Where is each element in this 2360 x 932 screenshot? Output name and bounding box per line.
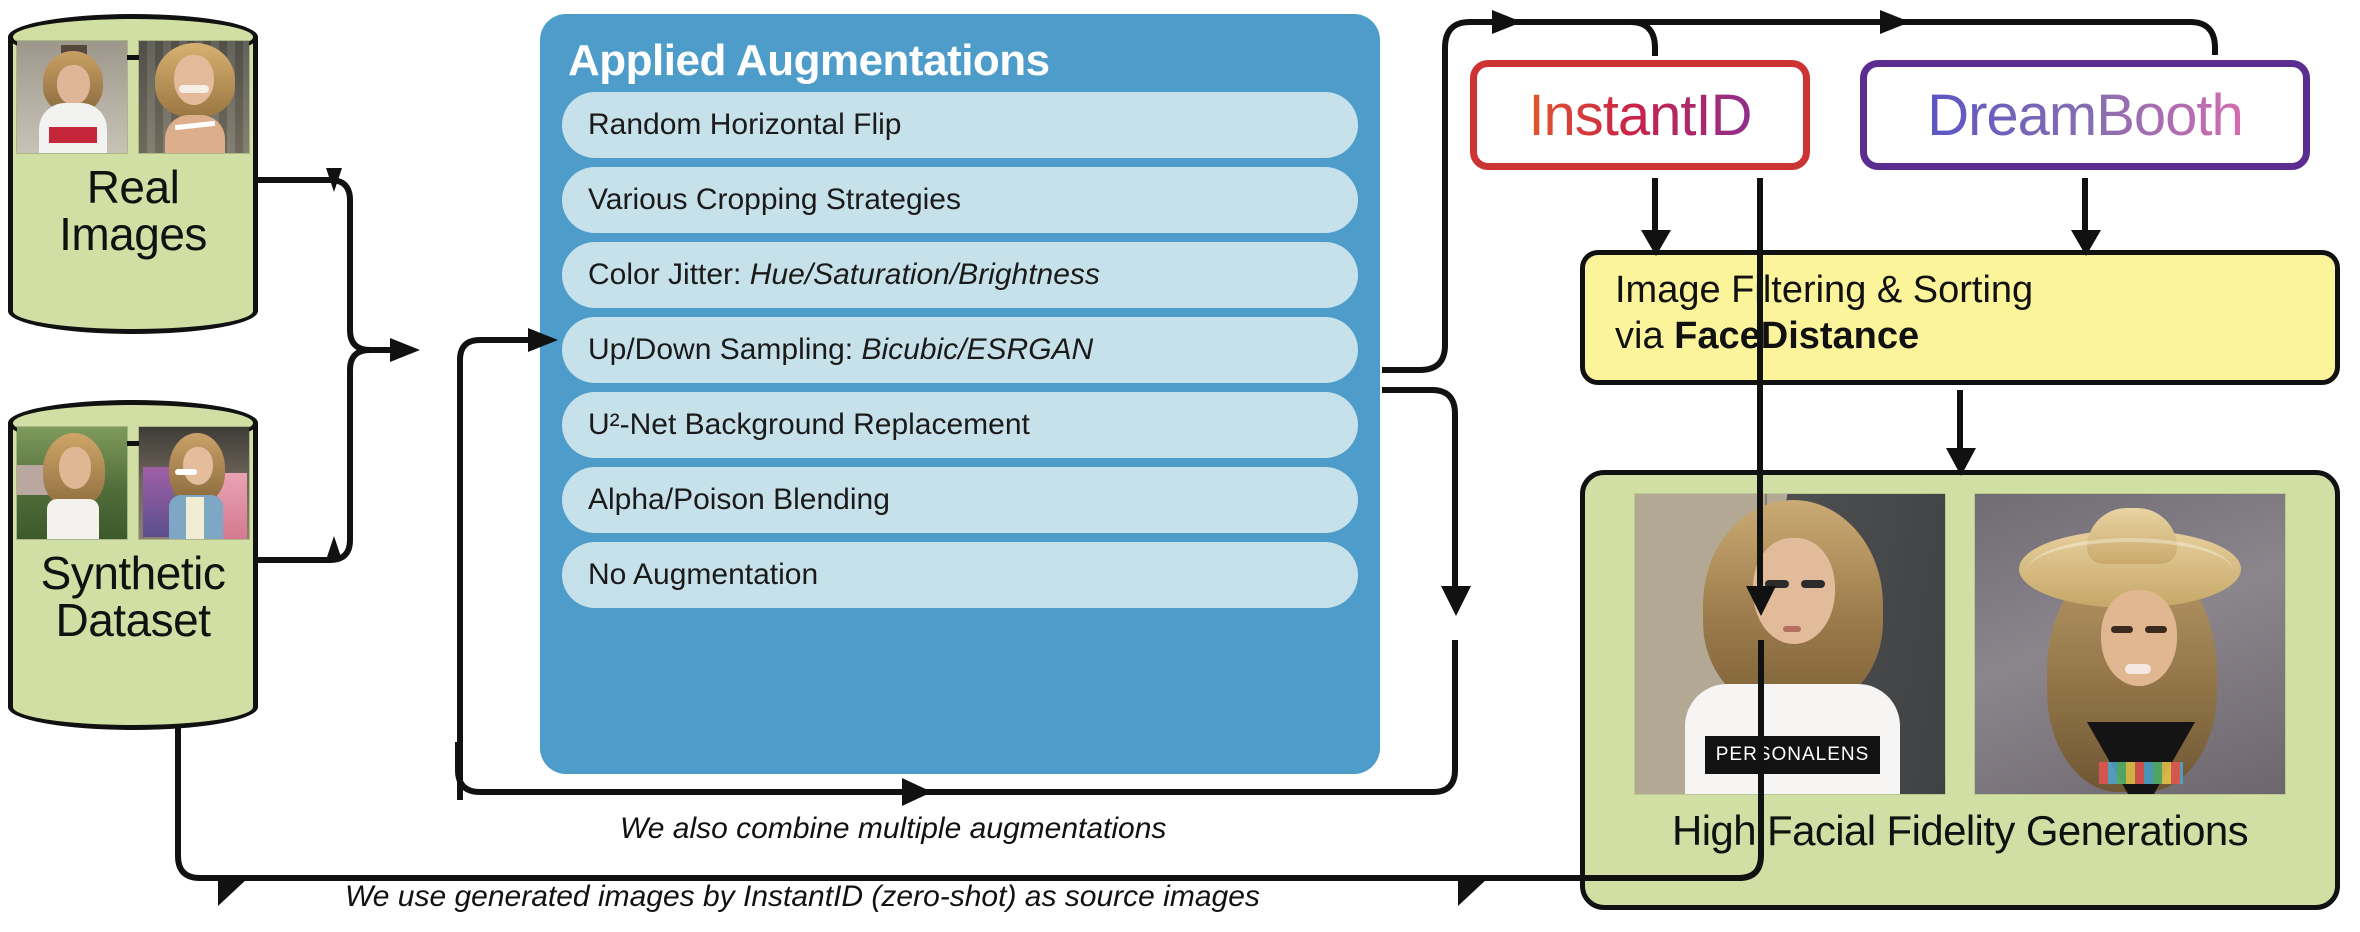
augmentation-label: Various Cropping Strategies <box>588 183 961 216</box>
arrowhead-synth-up <box>326 536 342 560</box>
cylinder-bottom-mask <box>13 679 253 707</box>
thumbnail-synth-2 <box>138 426 250 540</box>
augmentation-item-no-augmentation[interactable]: No Augmentation <box>562 542 1358 608</box>
generations-label: High Facial Fidelity Generations <box>1585 807 2335 855</box>
thumbnail-real-2 <box>138 40 250 154</box>
wire-branch-instantid <box>1630 22 1655 56</box>
filter-line-1: Image Filtering & Sorting <box>1615 267 2335 313</box>
augmentation-item-up-down-sampling[interactable]: Up/Down Sampling: Bicubic/ESRGAN <box>562 317 1358 383</box>
generation-thumb-1: PERSONALENS <box>1634 493 1946 795</box>
arrowhead-to-dreambooth <box>1880 10 1910 34</box>
arrowhead-source-loop-right <box>1458 878 1488 906</box>
instantid-label: InstantID <box>1528 82 1751 149</box>
caption-combine-augmentations: We also combine multiple augmentations <box>620 812 1166 846</box>
augmentation-label: Color Jitter: <box>588 258 750 291</box>
generation-thumbs: PERSONALENS <box>1585 493 2335 795</box>
arrowhead-merge <box>390 338 420 362</box>
synthetic-dataset-cylinder: Synthetic Dataset <box>8 400 258 730</box>
augmentation-label: Alpha/Poison Blending <box>588 483 890 516</box>
augmentation-item-color-jitter[interactable]: Color Jitter: Hue/Saturation/Brightness <box>562 242 1358 308</box>
augmentation-label-italic: Bicubic/ESRGAN <box>861 333 1093 366</box>
dreambooth-box[interactable]: DreamBooth <box>1860 60 2310 170</box>
arrowhead-combine-loop <box>902 778 932 806</box>
high-fidelity-generations-box: PERSONALENS High Facial Fidelity <box>1580 470 2340 910</box>
augmentation-item-various-cropping-strategies[interactable]: Various Cropping Strategies <box>562 167 1358 233</box>
wire-real-to-panel <box>258 180 395 350</box>
filter-line-2: via FaceDistance <box>1615 313 2335 359</box>
thumbnail-synth-1 <box>16 426 128 540</box>
cylinder-bottom-mask <box>13 283 253 311</box>
wire-synthetic-to-panel <box>258 350 395 560</box>
synthetic-dataset-label-line1: Synthetic <box>8 550 258 597</box>
arrowhead-panel-down <box>1441 586 1471 616</box>
wire-panel-down-right <box>1382 390 1455 600</box>
augmentation-label: Up/Down Sampling: <box>588 333 861 366</box>
applied-augmentations-panel: Applied Augmentations Random Horizontal … <box>540 14 1380 774</box>
synthetic-dataset-thumbs <box>8 426 258 540</box>
filter-line-2-prefix: via <box>1615 315 1674 357</box>
synthetic-dataset-label: Synthetic Dataset <box>8 550 258 644</box>
synthetic-dataset-label-line2: Dataset <box>8 597 258 644</box>
arrowhead-to-instantid <box>1492 10 1522 34</box>
instantid-box[interactable]: InstantID <box>1470 60 1810 170</box>
real-images-label-line2: Images <box>8 211 258 258</box>
arrowhead-source-loop-left <box>218 878 248 906</box>
arrowhead-real-down <box>326 168 342 192</box>
dreambooth-label: DreamBooth <box>1927 82 2243 149</box>
augmentation-label: Random Horizontal Flip <box>588 108 901 141</box>
augmentation-label: No Augmentation <box>588 558 818 591</box>
generation-thumb-2 <box>1974 493 2286 795</box>
synthetic-dataset-content: Synthetic Dataset <box>8 426 258 644</box>
wire-feedback-into-panel <box>460 340 535 800</box>
real-images-label: Real Images <box>8 164 258 258</box>
augmentation-label: U²-Net Background Replacement <box>588 408 1030 441</box>
real-images-label-line1: Real <box>8 164 258 211</box>
image-filtering-sorting-box: Image Filtering & Sorting via FaceDistan… <box>1580 250 2340 385</box>
real-images-thumbs <box>8 40 258 154</box>
thumbnail-real-1 <box>16 40 128 154</box>
augmentation-item-alpha-poison-blending[interactable]: Alpha/Poison Blending <box>562 467 1358 533</box>
filter-line-2-metric: FaceDistance <box>1674 315 1919 357</box>
augmentation-label-italic: Hue/Saturation/Brightness <box>750 258 1100 291</box>
caption-source-images: We use generated images by InstantID (ze… <box>345 880 1260 914</box>
real-images-content: Real Images <box>8 40 258 258</box>
augmentation-item-random-horizontal-flip[interactable]: Random Horizontal Flip <box>562 92 1358 158</box>
applied-augmentations-title: Applied Augmentations <box>540 14 1380 92</box>
augmentation-item-u2net-background-replacement[interactable]: U²-Net Background Replacement <box>562 392 1358 458</box>
real-images-cylinder: Real Images <box>8 14 258 334</box>
diagram-canvas: Real Images <box>0 0 2360 932</box>
generation-shirt-text: PERSONALENS <box>1705 744 1880 766</box>
